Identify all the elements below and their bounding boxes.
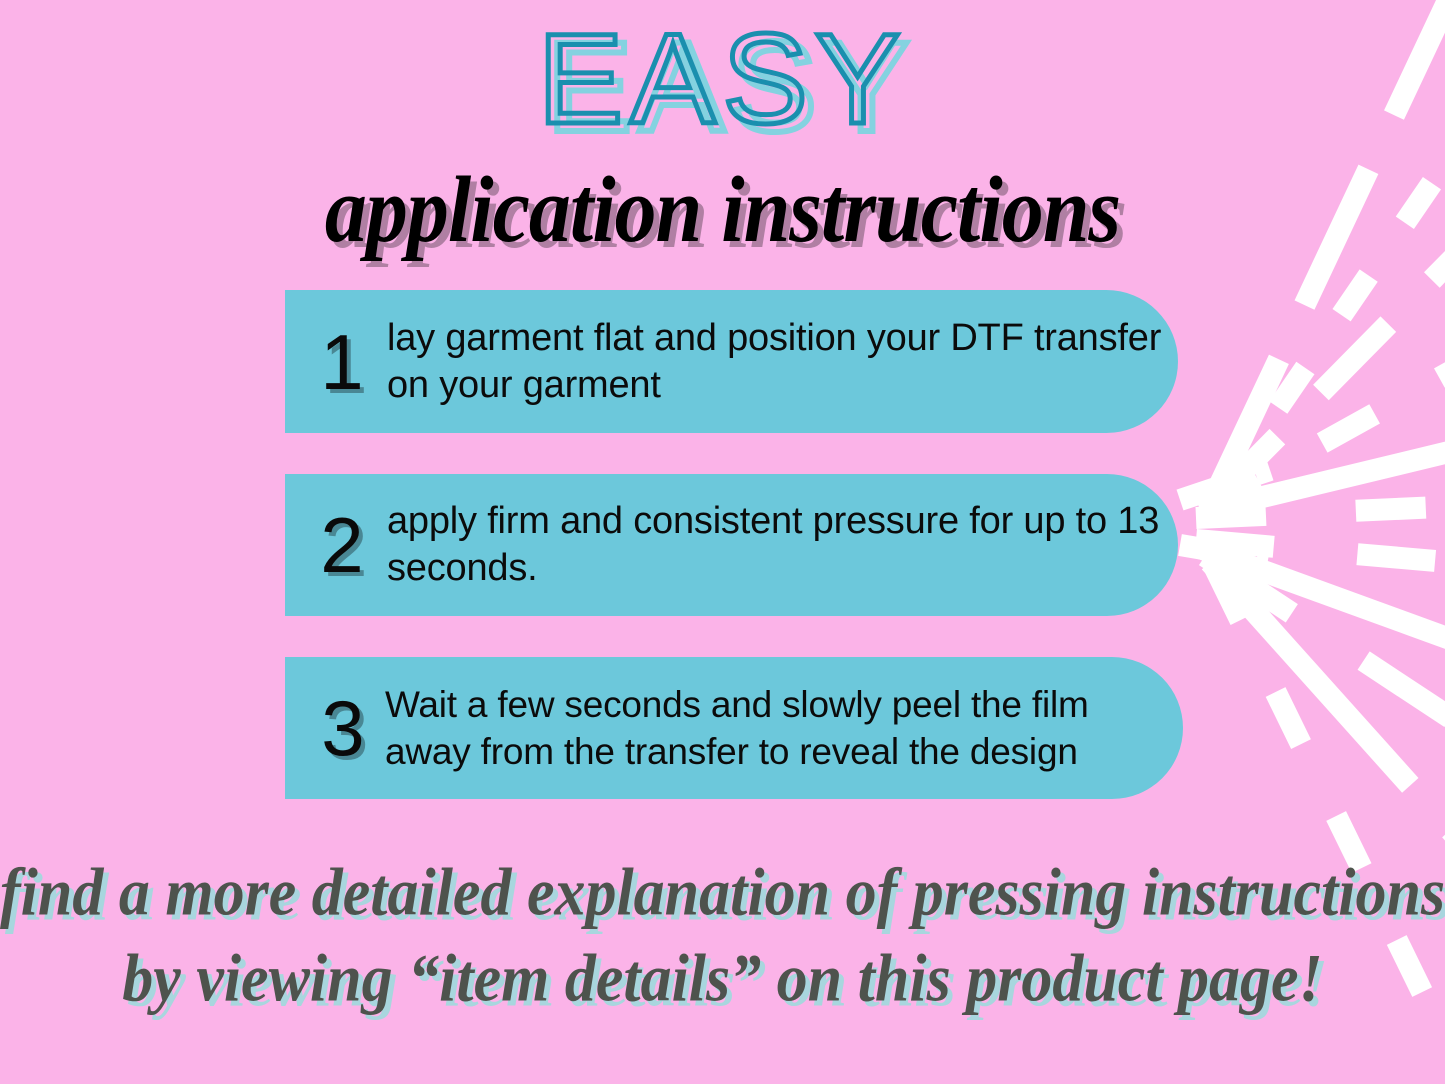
step-2-text: apply firm and consistent pressure for u… — [387, 498, 1178, 592]
easy-headline-text: EASY — [0, 10, 1445, 150]
step-pill-1: 1 lay garment flat and position your DTF… — [285, 290, 1178, 433]
step-3-text: Wait a few seconds and slowly peel the f… — [385, 681, 1183, 775]
poster-canvas: EASY EASY application instructions appli… — [0, 0, 1445, 1084]
step-pill-2: 2 apply firm and consistent pressure for… — [285, 474, 1178, 616]
step-pill-3: 3 Wait a few seconds and slowly peel the… — [285, 657, 1183, 799]
step-1-text: lay garment flat and position your DTF t… — [387, 315, 1178, 409]
footer-note: find a more detailed explanation of pres… — [0, 845, 1445, 1045]
step-1-number: 1 — [307, 323, 377, 401]
footer-line-2: by viewing “item details” on this produc… — [0, 931, 1445, 1017]
step-3-number: 3 — [311, 689, 375, 767]
step-2-number: 2 — [307, 506, 377, 584]
easy-headline: EASY EASY — [0, 10, 1445, 155]
footer-line-2-text: by viewing “item details” on this produc… — [0, 931, 1445, 1026]
application-instructions-heading-text: application instructions — [0, 155, 1445, 267]
footer-line-1: find a more detailed explanation of pres… — [0, 845, 1445, 931]
application-instructions-heading: application instructions application ins… — [0, 155, 1445, 265]
footer-line-1-text: find a more detailed explanation of pres… — [0, 845, 1445, 940]
